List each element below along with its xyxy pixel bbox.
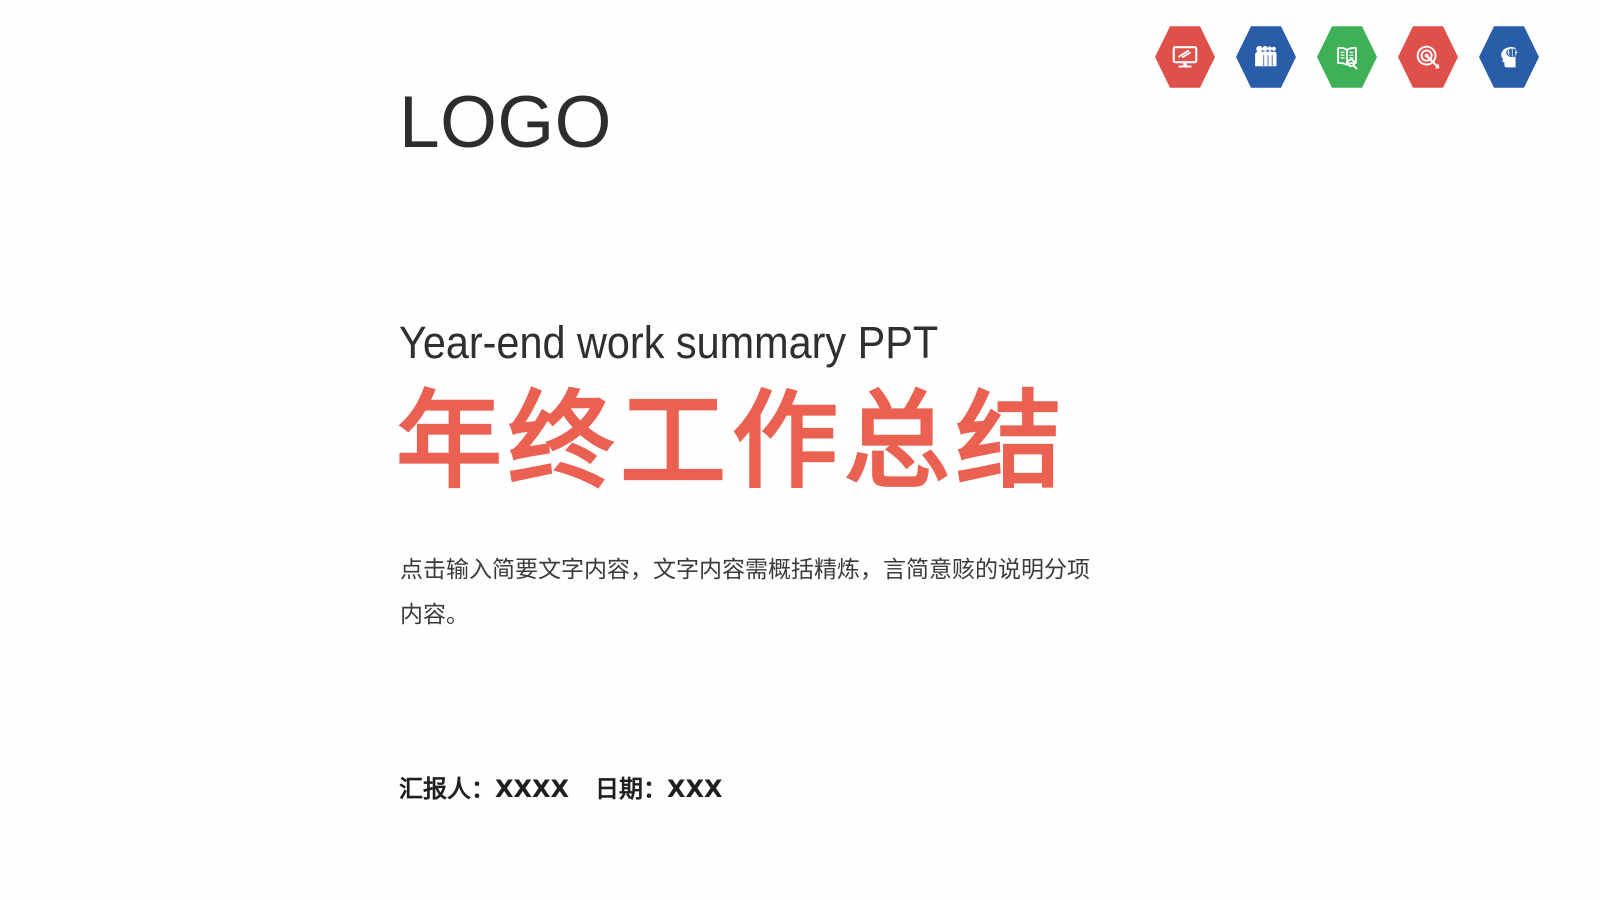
monitor-icon[interactable] bbox=[1155, 25, 1215, 89]
target-glyph bbox=[1413, 42, 1443, 72]
footer-meta: 汇报人：XXXX日期：XXX bbox=[399, 774, 723, 805]
team-group-icon[interactable] bbox=[1236, 25, 1296, 89]
target-arrow-icon[interactable] bbox=[1398, 25, 1458, 89]
book-glyph bbox=[1332, 42, 1362, 72]
brain-glyph bbox=[1494, 42, 1524, 72]
slide-canvas: LOGO Year-end work summary PPT 年终工作总结 点击… bbox=[0, 0, 1600, 900]
page-title: 年终工作总结 bbox=[396, 385, 1068, 499]
date-value: XXX bbox=[667, 775, 723, 803]
subtitle-english: Year-end work summary PPT bbox=[399, 318, 938, 368]
date-label: 日期： bbox=[595, 775, 667, 803]
book-search-icon[interactable] bbox=[1317, 25, 1377, 89]
presenter-value: XXXX bbox=[495, 775, 569, 803]
team-glyph bbox=[1251, 42, 1281, 72]
icon-row bbox=[1155, 24, 1555, 90]
brain-head-icon[interactable] bbox=[1479, 25, 1539, 89]
body-paragraph: 点击输入简要文字内容，文字内容需概括精炼，言简意赅的说明分项内容。 bbox=[400, 548, 1100, 638]
monitor-glyph bbox=[1170, 42, 1200, 72]
logo-text: LOGO bbox=[399, 86, 612, 159]
presenter-label: 汇报人： bbox=[399, 775, 495, 803]
